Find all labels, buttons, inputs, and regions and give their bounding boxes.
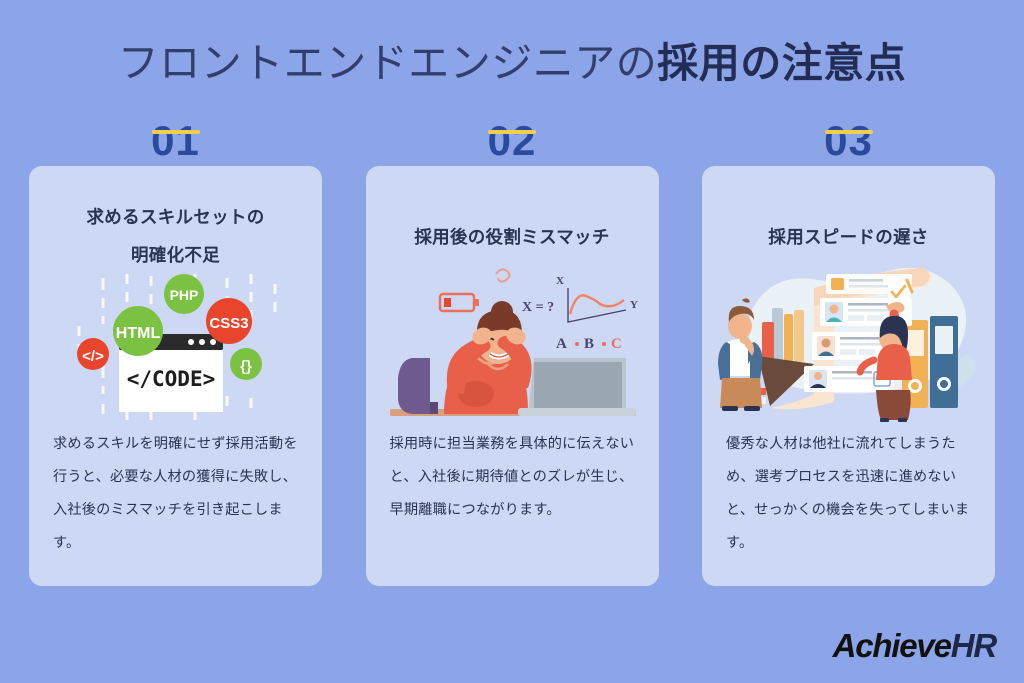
card-03: 03 採用スピードの遅さ bbox=[702, 166, 995, 586]
card-01-number-text: 01 bbox=[151, 117, 200, 164]
badge-css3: CSS3 bbox=[206, 298, 252, 344]
card-03-heading: 採用スピードの遅さ bbox=[720, 218, 977, 256]
card-02-heading-line1: 採用後の役割ミスマッチ bbox=[384, 218, 641, 256]
page-title: フロントエンドエンジニアの採用の注意点 bbox=[0, 34, 1024, 92]
card-01-body: 求めるスキルを明確にせず採用活動を行うと、必要な人材の獲得に失敗し、入社後のミス… bbox=[53, 428, 299, 560]
logo-part-two: HR bbox=[951, 627, 996, 664]
card-01-number-underline bbox=[152, 130, 200, 134]
card-02-number-text: 02 bbox=[488, 117, 537, 164]
card-01: 01 求めるスキルセットの 明確化不足 bbox=[29, 166, 322, 586]
svg-text:X: X bbox=[556, 275, 564, 287]
card-01-number: 01 bbox=[29, 118, 322, 164]
logo-part-one: Achieve bbox=[833, 627, 951, 664]
svg-text:Y: Y bbox=[630, 299, 638, 311]
svg-text:</>: </> bbox=[82, 348, 104, 365]
card-01-heading-line1: 求めるスキルセットの bbox=[47, 198, 304, 236]
stressed-person-at-laptop-illustration: X = ? X Y A B C bbox=[378, 266, 647, 422]
svg-text:{}: {} bbox=[240, 358, 252, 375]
svg-text:B: B bbox=[584, 336, 594, 352]
badge-html: HTML bbox=[113, 306, 163, 356]
achievehr-logo: AchieveHR bbox=[833, 627, 996, 665]
card-03-number: 03 bbox=[702, 118, 995, 164]
badge-curly-braces: {} bbox=[230, 348, 262, 380]
svg-text:A: A bbox=[556, 336, 567, 352]
svg-text:PHP: PHP bbox=[170, 287, 199, 303]
card-02: 02 採用後の役割ミスマッチ X = ? X Y bbox=[366, 166, 659, 586]
svg-text:CSS3: CSS3 bbox=[209, 315, 248, 332]
card-03-body: 優秀な人材は他社に流れてしまうため、選考プロセスを迅速に進めないと、せっかくの機… bbox=[726, 428, 972, 560]
card-01-heading-line2: 明確化不足 bbox=[47, 236, 304, 274]
cards-row: 01 求めるスキルセットの 明確化不足 bbox=[29, 166, 995, 586]
card-01-heading: 求めるスキルセットの 明確化不足 bbox=[47, 198, 304, 274]
low-battery-icon bbox=[440, 294, 479, 311]
abc-text: A B C bbox=[556, 336, 622, 352]
code-window-text: </CODE> bbox=[127, 367, 216, 391]
badge-php: PHP bbox=[164, 274, 204, 314]
card-03-heading-line1: 採用スピードの遅さ bbox=[720, 218, 977, 256]
card-02-heading: 採用後の役割ミスマッチ bbox=[384, 218, 641, 256]
page-title-strong: 採用の注意点 bbox=[657, 40, 906, 86]
code-window-illustration: </CODE> PHP HTML CSS3 </> {} bbox=[41, 274, 310, 422]
card-02-number: 02 bbox=[366, 118, 659, 164]
resume-review-illustration bbox=[714, 260, 983, 422]
equation-text: X = ? bbox=[522, 300, 554, 315]
card-03-number-underline bbox=[825, 130, 873, 134]
svg-text:C: C bbox=[611, 336, 622, 352]
card-02-body: 採用時に担当業務を具体的に伝えないと、入社後に期待値とのズレが生じ、早期離職につ… bbox=[390, 428, 636, 527]
graph-icon: X Y bbox=[556, 275, 638, 322]
card-03-number-text: 03 bbox=[824, 117, 873, 164]
badge-angle-brackets: </> bbox=[77, 338, 109, 370]
svg-text:HTML: HTML bbox=[116, 325, 161, 342]
page-title-normal: フロントエンドエンジニアの bbox=[118, 40, 658, 86]
card-02-number-underline bbox=[488, 130, 536, 134]
